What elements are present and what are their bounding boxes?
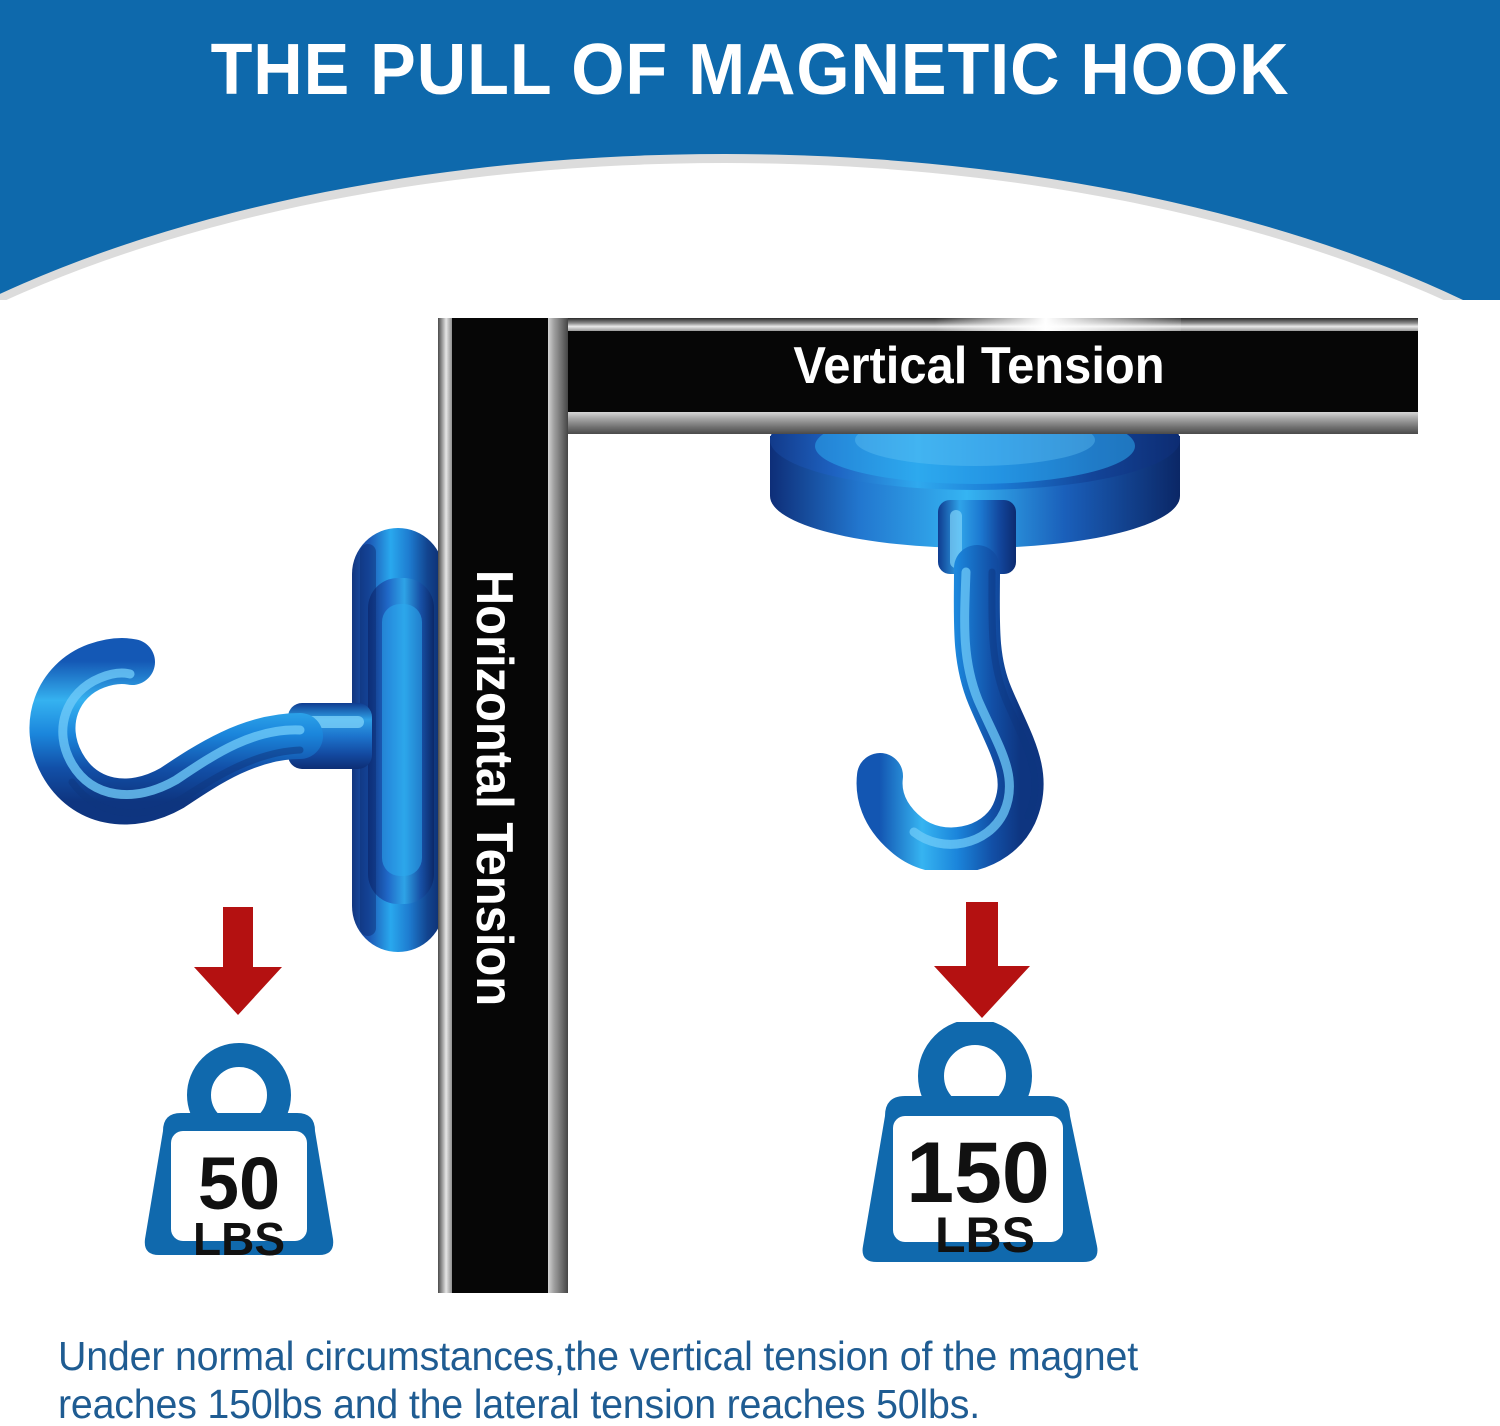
header-banner: THE PULL OF MAGNETIC HOOK [0, 0, 1500, 300]
page-title: THE PULL OF MAGNETIC HOOK [38, 34, 1463, 106]
bar-right-edge [548, 318, 568, 1293]
weight-icon-50lbs: 50 LBS [133, 1043, 345, 1265]
magnetic-hook-horizontal [0, 520, 470, 960]
weight-icon-150lbs: 150 LBS [853, 1022, 1121, 1274]
caption: Under normal circumstances,the vertical … [58, 1332, 1392, 1426]
bar-bottom-edge [540, 412, 1418, 434]
magnetic-hook-vertical [760, 400, 1190, 870]
product-infographic: THE PULL OF MAGNETIC HOOK Vertical Tensi… [0, 0, 1500, 1426]
hook-curve [52, 661, 300, 813]
vertical-tension-label: Vertical Tension [566, 318, 1391, 414]
caption-line-1: Under normal circumstances,the vertical … [58, 1332, 1392, 1380]
horizontal-tension-label-text: Horizontal Tension [464, 570, 524, 1006]
caption-line-2: reaches 150lbs and the lateral tension r… [58, 1380, 1392, 1426]
down-arrow-icon [190, 905, 286, 1017]
hook-curve [880, 568, 1035, 850]
horizontal-tension-label: Horizontal Tension [438, 468, 550, 1108]
weight-unit-text: LBS [193, 1213, 285, 1265]
horizontal-steel-bar: Vertical Tension [540, 318, 1418, 414]
weight-unit-text: LBS [935, 1207, 1035, 1263]
down-arrow-icon [930, 900, 1034, 1020]
vertical-steel-bar: Horizontal Tension [438, 318, 550, 1293]
